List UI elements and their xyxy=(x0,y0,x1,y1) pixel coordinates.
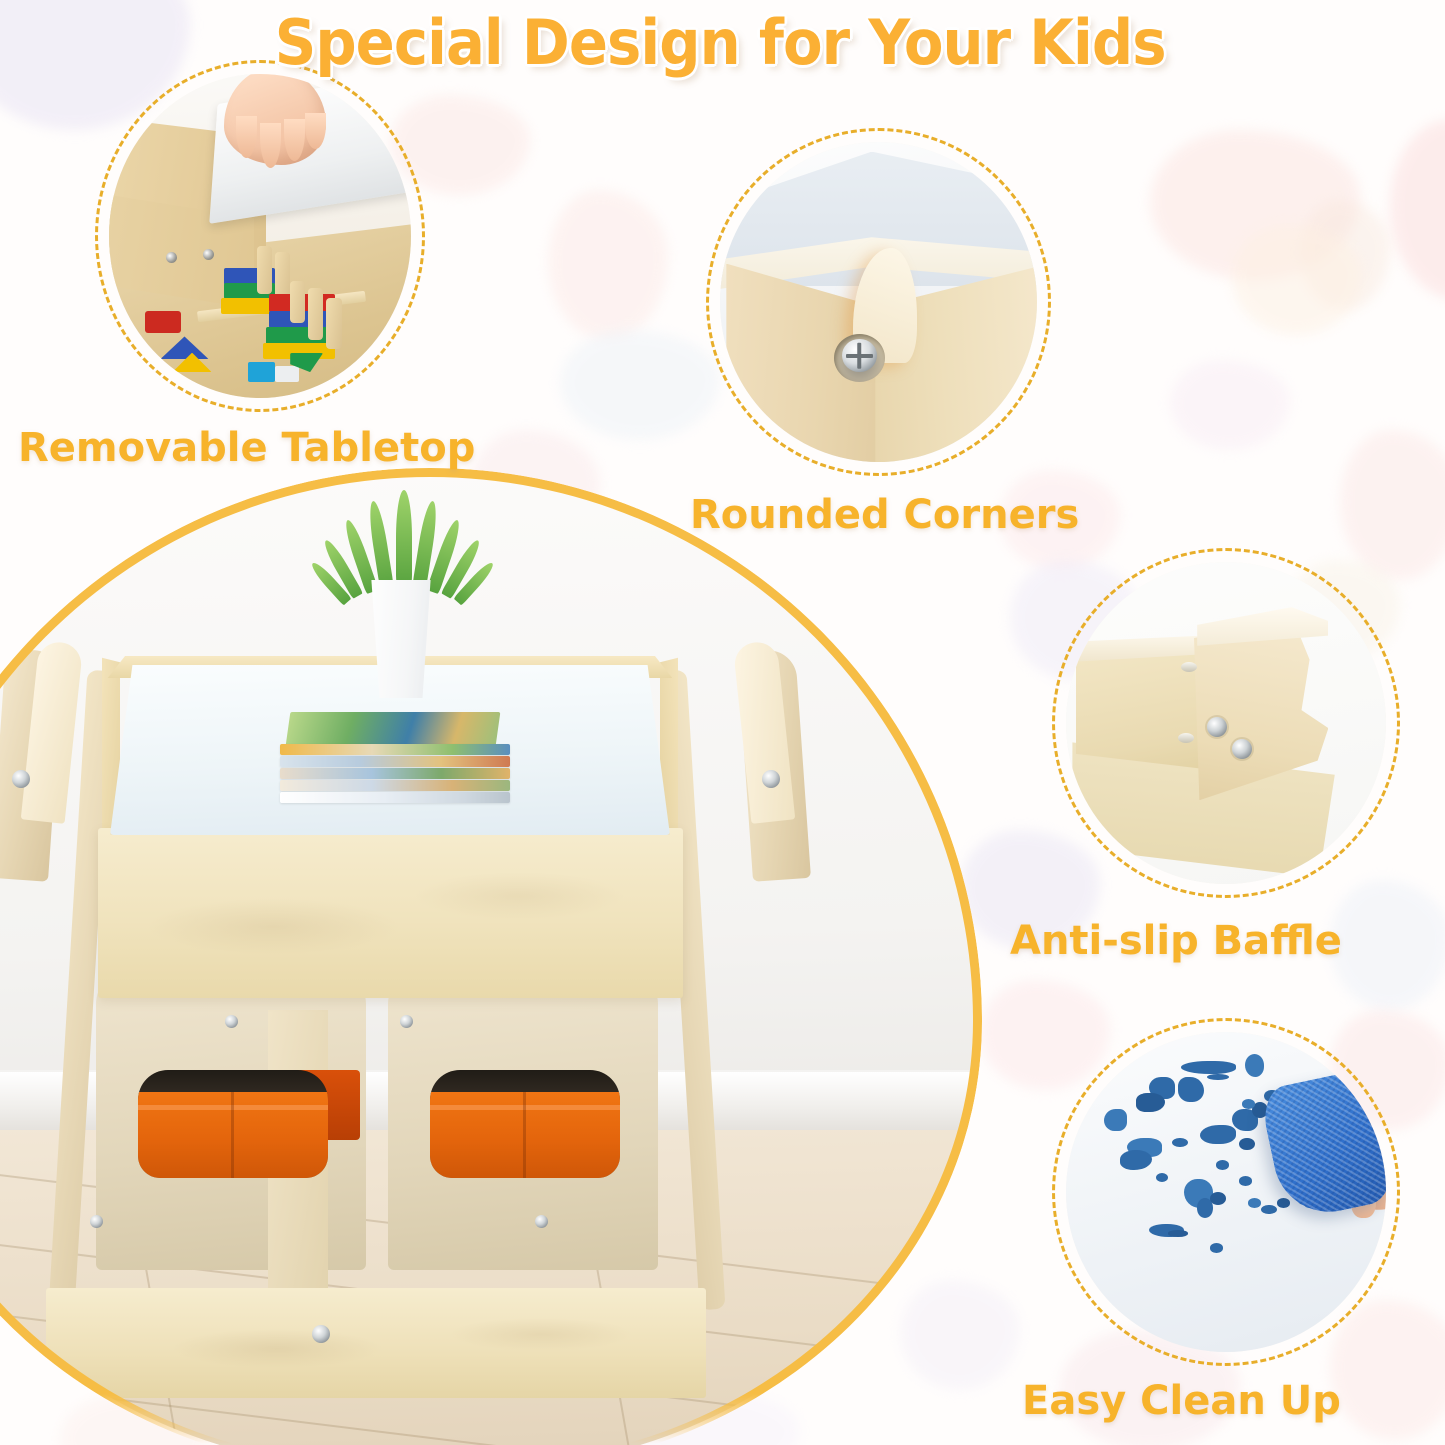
corner-screw xyxy=(842,339,877,373)
caption-easy-clean-up: Easy Clean Up xyxy=(1022,1378,1341,1424)
inset-easy-clean-up xyxy=(1052,1018,1400,1366)
stacked-books xyxy=(280,738,510,816)
baffle-screw-upper xyxy=(1207,717,1227,737)
main-product-photo-clip xyxy=(0,470,980,1445)
main-product-photo xyxy=(0,470,980,1445)
screw-seat-right-bottom xyxy=(535,1215,548,1228)
inset-removable-tabletop xyxy=(95,60,425,412)
storage-bin-right xyxy=(430,1092,620,1178)
inset-rounded-corners xyxy=(706,128,1051,476)
inset-easy-clean-up-photo xyxy=(1066,1032,1386,1352)
page-title-text: Special Design for Your Kids xyxy=(274,6,1170,79)
screw-chair-right xyxy=(762,770,780,788)
caption-rounded-corners: Rounded Corners xyxy=(690,492,1079,538)
caption-removable-tabletop: Removable Tabletop xyxy=(18,425,475,471)
screw-chair-left xyxy=(12,770,30,788)
inset-anti-slip-baffle-photo xyxy=(1066,562,1386,884)
inset-removable-tabletop-photo xyxy=(109,74,411,398)
caption-anti-slip-baffle: Anti-slip Baffle xyxy=(1010,918,1342,964)
infographic-page: Special Design for Your Kids xyxy=(0,0,1445,1445)
screw-rail-center xyxy=(312,1325,330,1343)
page-title: Special Design for Your Kids xyxy=(0,6,1445,79)
inset-anti-slip-baffle xyxy=(1052,548,1400,898)
screw-seat-left-bottom xyxy=(90,1215,103,1228)
screw-seat-right-top xyxy=(400,1015,413,1028)
storage-opening-right xyxy=(430,1070,620,1178)
table-front-panel xyxy=(98,828,683,998)
book-top-open xyxy=(286,712,501,746)
bottom-rail xyxy=(46,1288,706,1398)
storage-bin-left xyxy=(138,1092,328,1178)
inset-rounded-corners-photo xyxy=(720,142,1037,462)
screw-seat-left-top xyxy=(225,1015,238,1028)
storage-opening-left xyxy=(138,1070,328,1178)
